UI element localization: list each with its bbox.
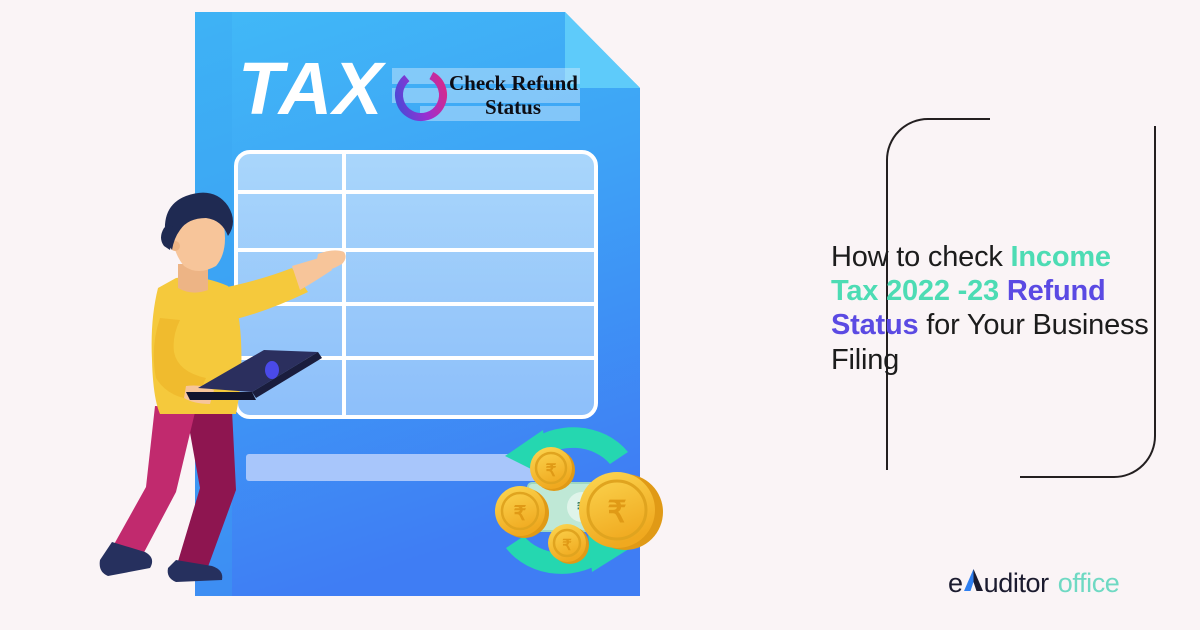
frame-gap-top — [990, 110, 1170, 126]
svg-text:₹: ₹ — [607, 496, 626, 529]
brand-logo: e uditor office — [948, 568, 1119, 599]
svg-text:₹: ₹ — [562, 537, 572, 554]
svg-text:₹: ₹ — [546, 461, 557, 480]
badge-text-line1: Check Refund — [449, 71, 578, 95]
frame-gap-bottom — [870, 470, 1020, 486]
logo-letter-a-icon — [963, 568, 984, 592]
badge-text-line2: Status — [485, 95, 541, 119]
headline: How to check Income Tax 2022 -23 Refund … — [831, 240, 1161, 377]
headline-segment-1: How to check — [831, 241, 1011, 273]
poster-canvas: TAX Check Refund Status — [0, 0, 1200, 630]
logo-part-e: e — [948, 568, 963, 599]
tax-refund-illustration: TAX Check Refund Status — [0, 0, 700, 630]
svg-text:₹: ₹ — [514, 503, 527, 525]
logo-part-uditor: uditor — [984, 568, 1049, 599]
logo-part-office: office — [1058, 568, 1120, 599]
document-input-bar — [246, 454, 538, 481]
right-content-panel: How to check Income Tax 2022 -23 Refund … — [700, 0, 1200, 630]
document-title-tax: TAX — [238, 47, 387, 130]
